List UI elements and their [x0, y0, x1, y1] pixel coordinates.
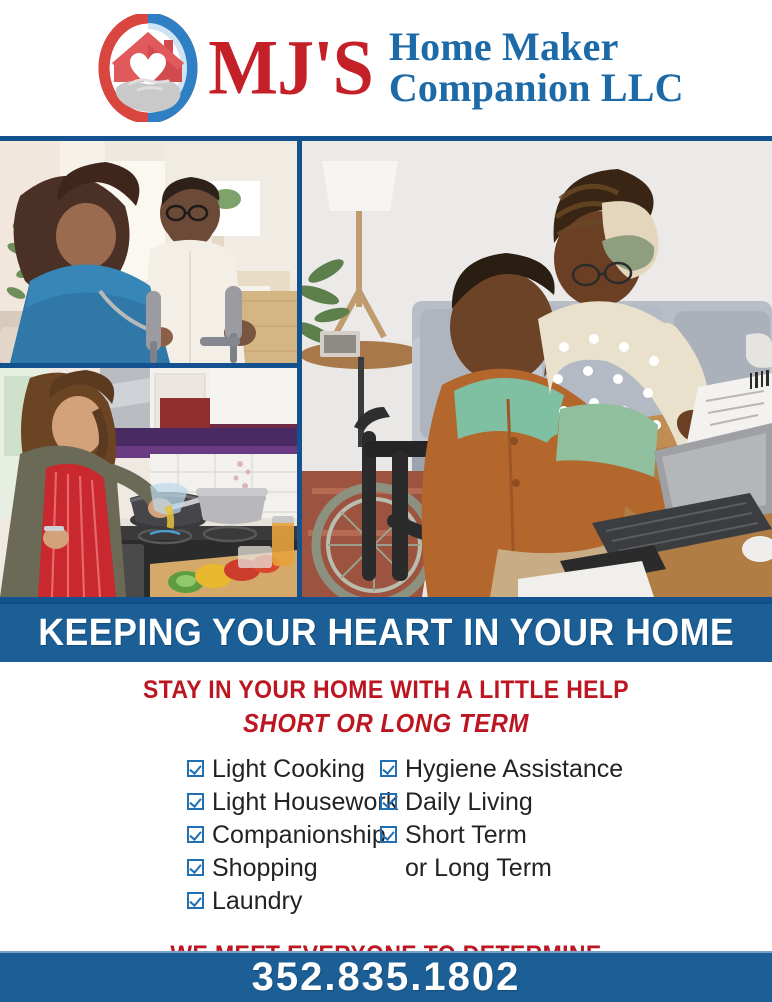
list-item[interactable]: Light Cooking	[187, 753, 380, 786]
photo-caregiver-man-wheelchair-laptop-art	[302, 141, 772, 597]
service-label: Daily Living	[405, 786, 533, 819]
subhead-block: STAY IN YOUR HOME WITH A LITTLE HELP SHO…	[0, 662, 772, 739]
service-label: Hygiene Assistance	[405, 753, 623, 786]
brand-mjs-text: MJ'S	[208, 31, 373, 106]
brand-wordmark: MJ'S Home Maker Companion LLC	[208, 27, 683, 109]
service-label: Shopping	[212, 852, 318, 885]
brand-line-2: Companion LLC	[389, 68, 684, 109]
service-label: Short Term	[405, 819, 527, 852]
list-item[interactable]: Shopping	[187, 852, 380, 885]
checkbox-icon[interactable]	[187, 793, 204, 810]
mjs-logo-mark	[94, 14, 202, 122]
subhead-line-1: STAY IN YOUR HOME WITH A LITTLE HELP	[31, 676, 741, 705]
photo-caregiver-assisting-walking	[0, 141, 297, 363]
photo-woman-cooking-kitchen	[0, 368, 297, 597]
subhead-line-2: SHORT OR LONG TERM	[31, 708, 741, 739]
photo-collage	[0, 136, 772, 602]
checkbox-icon[interactable]	[187, 760, 204, 777]
photo-caregiver-assisting-walking-art	[0, 141, 297, 363]
photo-woman-cooking-kitchen-art	[0, 368, 297, 597]
checkbox-icon[interactable]	[380, 793, 397, 810]
photo-caregiver-man-wheelchair-laptop	[302, 141, 772, 597]
collage-left-column	[0, 141, 297, 597]
brand-name-text: Home Maker Companion LLC	[389, 27, 684, 109]
list-item-continuation: or Long Term	[380, 852, 680, 885]
brand-line-1: Home Maker	[389, 27, 684, 68]
services-column-left: Light Cooking Light Housework Companions…	[92, 753, 380, 918]
main-banner: KEEPING YOUR HEART IN YOUR HOME	[0, 602, 772, 662]
service-label: Light Cooking	[212, 753, 365, 786]
phone-number[interactable]: 352.835.1802	[252, 955, 521, 1000]
list-item[interactable]: Light Housework	[187, 786, 380, 819]
list-item[interactable]: Short Term	[380, 819, 680, 852]
page-header: MJ'S Home Maker Companion LLC	[0, 0, 772, 136]
checkbox-icon[interactable]	[380, 826, 397, 843]
service-label: Laundry	[212, 885, 302, 918]
phone-bar: 352.835.1802	[0, 951, 772, 1002]
checkbox-icon[interactable]	[187, 892, 204, 909]
service-label: or Long Term	[405, 852, 552, 885]
service-label: Light Housework	[212, 786, 398, 819]
services-column-right: Hygiene Assistance Daily Living Short Te…	[380, 753, 680, 918]
list-item[interactable]: Laundry	[187, 885, 380, 918]
checkbox-icon[interactable]	[187, 859, 204, 876]
list-item[interactable]: Daily Living	[380, 786, 680, 819]
checkbox-icon[interactable]	[187, 826, 204, 843]
service-label: Companionship	[212, 819, 386, 852]
banner-headline: KEEPING YOUR HEART IN YOUR HOME	[38, 612, 734, 655]
checkbox-icon[interactable]	[380, 760, 397, 777]
list-item[interactable]: Hygiene Assistance	[380, 753, 680, 786]
list-item[interactable]: Companionship	[187, 819, 380, 852]
services-checklist: Light Cooking Light Housework Companions…	[0, 739, 772, 918]
logo-icon	[94, 14, 202, 122]
